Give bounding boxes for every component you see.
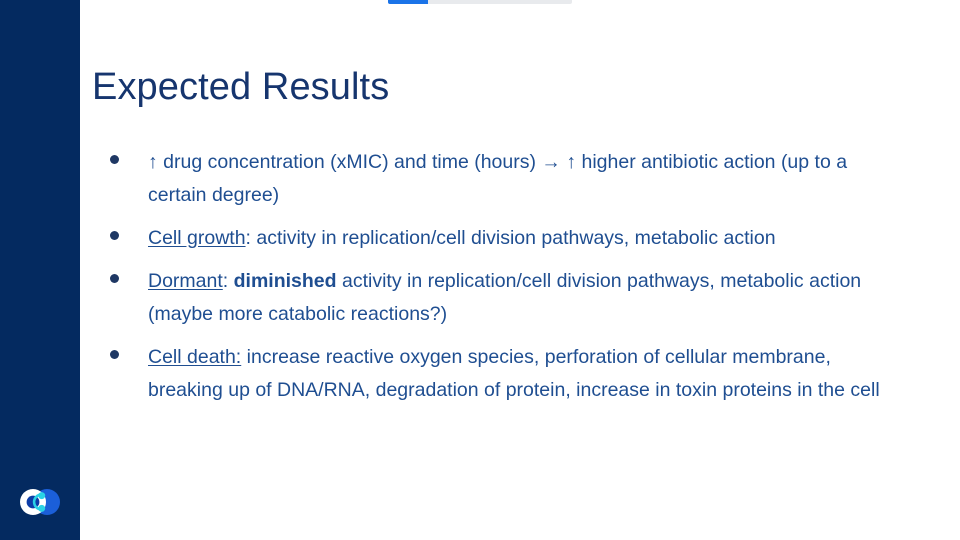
page-title: Expected Results xyxy=(92,63,792,111)
text-run: Cell growth xyxy=(148,227,246,249)
text-run: diminished xyxy=(234,270,337,292)
bullet-list: ↑ drug concentration (xMIC) and time (ho… xyxy=(104,146,904,417)
presentation-progress-fill xyxy=(388,0,428,4)
company-logo xyxy=(15,486,65,518)
presentation-progress-bar[interactable] xyxy=(388,0,572,4)
bullet-dot-icon xyxy=(110,350,119,359)
text-run: : activity in replication/cell division … xyxy=(246,227,776,249)
text-run: Cell death: xyxy=(148,346,241,368)
list-item-text: Cell growth: activity in replication/cel… xyxy=(148,227,776,249)
text-run: Dormant xyxy=(148,270,223,292)
bullet-dot-icon xyxy=(110,231,119,240)
list-item-text: Dormant: diminished activity in replicat… xyxy=(148,270,861,325)
text-run: : xyxy=(223,270,234,292)
list-item: Cell death: increase reactive oxygen spe… xyxy=(104,341,904,407)
company-logo-icon xyxy=(15,486,65,518)
list-item-text: Cell death: increase reactive oxygen spe… xyxy=(148,346,880,401)
bullet-dot-icon xyxy=(110,274,119,283)
text-run: increase reactive oxygen species, perfor… xyxy=(148,346,880,401)
list-item-text: ↑ drug concentration (xMIC) and time (ho… xyxy=(148,151,847,206)
presentation-slide: Expected Results ↑ drug concentration (x… xyxy=(0,0,960,540)
list-item: ↑ drug concentration (xMIC) and time (ho… xyxy=(104,146,904,212)
list-item: Dormant: diminished activity in replicat… xyxy=(104,265,904,331)
bullet-dot-icon xyxy=(110,155,119,164)
text-run: ↑ drug concentration (xMIC) and time (ho… xyxy=(148,151,847,206)
list-item: Cell growth: activity in replication/cel… xyxy=(104,222,904,255)
slide-sidebar-band xyxy=(0,0,80,540)
